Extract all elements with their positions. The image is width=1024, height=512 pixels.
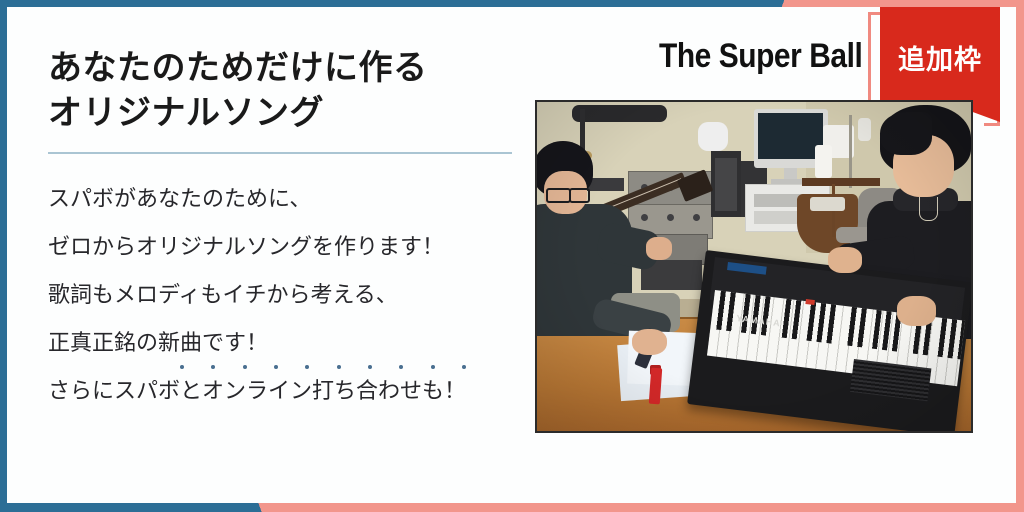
body-line-5-emphasis-text: とオンライン打ち合わせも！	[180, 379, 466, 404]
page-title-line-2: オリジナルソング	[48, 91, 518, 136]
frame-border-top-salmon	[776, 0, 1024, 7]
body-line-3: 歌詞もメロディもイチから考える、	[48, 272, 518, 320]
body-line-4: 正真正銘の新曲です！	[48, 320, 518, 368]
frame-border-right	[1016, 0, 1024, 512]
body-line-5: さらにスパボとオンライン打ち合わせも！	[48, 368, 518, 416]
body-line-2: ゼロからオリジナルソングを作ります！	[48, 224, 518, 272]
title-divider	[48, 152, 512, 154]
ribbon-label: 追加枠	[880, 38, 1000, 77]
page-title-line-1: あなたのためだけに作る	[48, 46, 518, 91]
promo-banner: あなたのためだけに作る オリジナルソング スパボがあなたのために、 ゼロからオリ…	[0, 0, 1024, 512]
frame-border-top-teal	[0, 0, 784, 7]
brand-name: The Super Ball	[659, 38, 862, 74]
frame-border-left	[0, 0, 7, 505]
frame-border-bottom-salmon	[255, 503, 1024, 512]
body-line-1: スパボがあなたのために、	[48, 176, 518, 224]
frame-border-top-blend	[776, 0, 790, 7]
body-line-5-prefix: さらにスパボ	[48, 379, 180, 404]
frame-border-bottom-teal	[0, 503, 262, 512]
body-line-5-emphasized: とオンライン打ち合わせも！	[180, 379, 466, 404]
text-column: あなたのためだけに作る オリジナルソング スパボがあなたのために、 ゼロからオリ…	[48, 46, 518, 416]
body-text: スパボがあなたのために、 ゼロからオリジナルソングを作ります！ 歌詞もメロディも…	[48, 176, 518, 416]
studio-photo: YAMAHA	[535, 100, 973, 433]
frame-border-bottom-blend	[252, 503, 268, 512]
photo-vignette	[537, 102, 971, 431]
